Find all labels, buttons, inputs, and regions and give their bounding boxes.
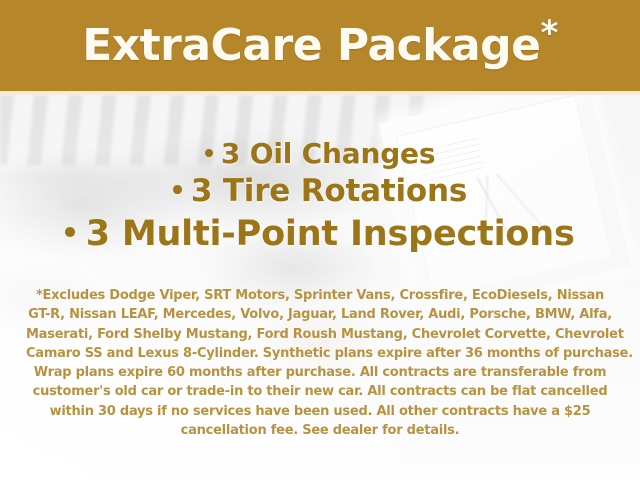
disclaimer-line: customer's old car or trade-in to their … <box>26 382 614 401</box>
feature-list: 3 Oil Changes 3 Tire Rotations 3 Multi-P… <box>0 136 640 256</box>
disclaimer-line: *Excludes Dodge Viper, SRT Motors, Sprin… <box>26 286 614 305</box>
page-title: ExtraCare Package* <box>82 24 558 68</box>
disclaimer-line: cancellation fee. See dealer for details… <box>26 421 614 440</box>
bullet-dot-icon <box>65 227 75 237</box>
page-title-asterisk: * <box>541 13 558 53</box>
feature-list-item-label: 3 Multi-Point Inspections <box>86 214 575 254</box>
disclaimer-line: within 30 days if no services have been … <box>26 402 614 421</box>
feature-list-item: 3 Multi-Point Inspections <box>0 212 640 257</box>
feature-list-item-label: 3 Tire Rotations <box>191 173 467 209</box>
disclaimer-text: *Excludes Dodge Viper, SRT Motors, Sprin… <box>26 286 614 440</box>
disclaimer-line: GT-R, Nissan LEAF, Mercedes, Volvo, Jagu… <box>26 305 614 324</box>
disclaimer-line: Maserati, Ford Shelby Mustang, Ford Rous… <box>26 325 614 344</box>
header-banner: ExtraCare Package* <box>0 0 640 95</box>
bullet-dot-icon <box>205 149 213 157</box>
disclaimer-line: Wrap plans expire 60 months after purcha… <box>26 363 614 382</box>
feature-list-item: 3 Oil Changes <box>0 136 640 172</box>
bullet-dot-icon <box>173 185 182 194</box>
feature-list-item: 3 Tire Rotations <box>0 172 640 212</box>
feature-list-item-label: 3 Oil Changes <box>221 137 435 170</box>
page-title-text: ExtraCare Package <box>82 20 540 71</box>
extracare-package-ad: ExtraCare Package* 3 Oil Changes 3 Tire … <box>0 0 640 480</box>
disclaimer-line: Camaro SS and Lexus 8-Cylinder. Syntheti… <box>26 344 614 363</box>
